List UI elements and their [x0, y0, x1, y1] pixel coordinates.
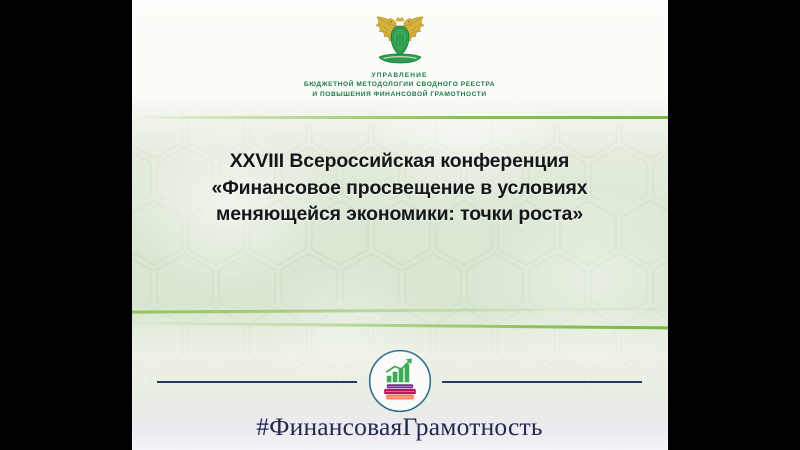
org-name-line-1: УПРАВЛЕНИЕ	[131, 71, 668, 80]
title-line-2: «Финансовое просвещение в условиях	[131, 175, 668, 202]
navy-rule-right	[442, 381, 642, 383]
title-line-1: XXVIII Всероссийская конференция	[131, 148, 668, 175]
logo-lockup	[131, 346, 668, 412]
green-divider-bottom	[131, 322, 668, 330]
organization-header: УПРАВЛЕНИЕ БЮДЖЕТНОЙ МЕТОДОЛОГИИ СВОДНОГ…	[131, 0, 668, 99]
stacked-books	[384, 384, 416, 399]
organization-name: УПРАВЛЕНИЕ БЮДЖЕТНОЙ МЕТОДОЛОГИИ СВОДНОГ…	[131, 71, 668, 99]
conference-title: XXVIII Всероссийская конференция «Финанс…	[131, 148, 668, 228]
title-line-3: меняющейся экономики: точки роста»	[131, 201, 668, 228]
financial-literacy-logo	[367, 348, 433, 414]
campaign-hashtag: #ФинансоваяГрамотность	[131, 412, 668, 442]
campaign-branding: #ФинансоваяГрамотность	[131, 346, 668, 442]
green-divider-top	[131, 116, 668, 119]
letterbox-bar-right	[668, 0, 800, 450]
org-name-line-2: БЮДЖЕТНОЙ МЕТОДОЛОГИИ СВОДНОГО РЕЕСТРА	[131, 80, 668, 89]
double-headed-eagle-emblem	[369, 11, 431, 67]
letterbox-bar-left	[0, 0, 132, 450]
green-divider-middle	[131, 307, 668, 313]
presentation-slide: УПРАВЛЕНИЕ БЮДЖЕТНОЙ МЕТОДОЛОГИИ СВОДНОГ…	[131, 0, 668, 450]
navy-rule-left	[157, 381, 357, 383]
video-frame: УПРАВЛЕНИЕ БЮДЖЕТНОЙ МЕТОДОЛОГИИ СВОДНОГ…	[0, 0, 800, 450]
org-name-line-3: И ПОВЫШЕНИЯ ФИНАНСОВОЙ ГРАМОТНОСТИ	[131, 90, 668, 99]
